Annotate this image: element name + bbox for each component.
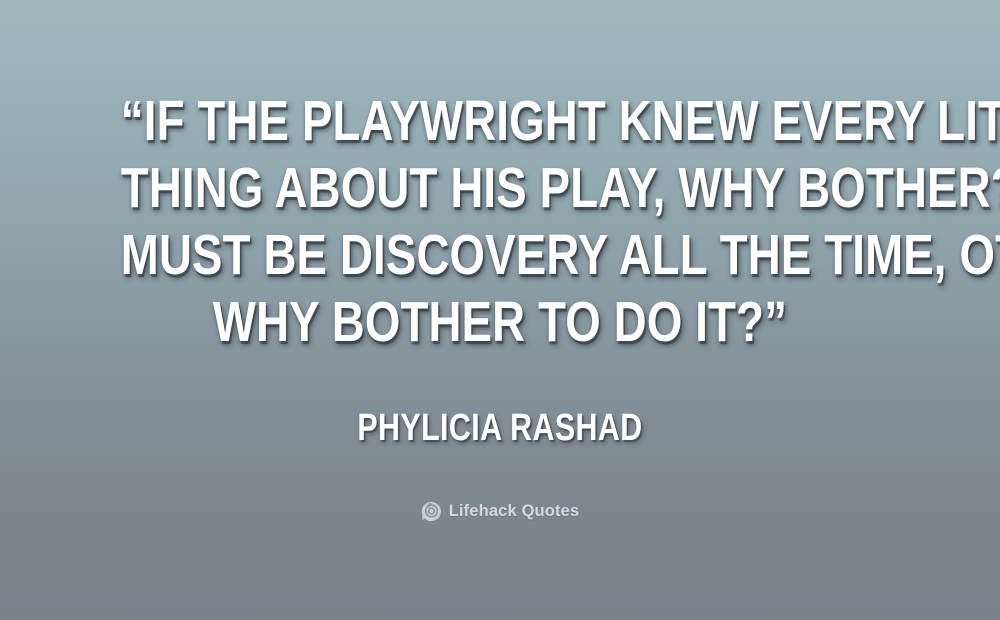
quote-line-4: WHY BOTHER TO DO IT?” [121, 289, 879, 356]
quote-line-1: “IF THE PLAYWRIGHT KNEW EVERY LITTLE [121, 88, 879, 155]
quote-card: “IF THE PLAYWRIGHT KNEW EVERY LITTLE THI… [0, 0, 1000, 620]
brand-footer: Lifehack Quotes [0, 498, 1000, 524]
quote-line-2: THING ABOUT HIS PLAY, WHY BOTHER? THERE [121, 155, 879, 222]
brand-name: Lifehack Quotes [449, 501, 580, 521]
quote-author: PHYLICIA RASHAD [100, 406, 900, 450]
lifehack-circle-logo-icon [421, 501, 442, 522]
quote-line-3: MUST BE DISCOVERY ALL THE TIME, OTHERWIS… [121, 222, 879, 289]
quote-text: “IF THE PLAYWRIGHT KNEW EVERY LITTLE THI… [0, 88, 1000, 356]
